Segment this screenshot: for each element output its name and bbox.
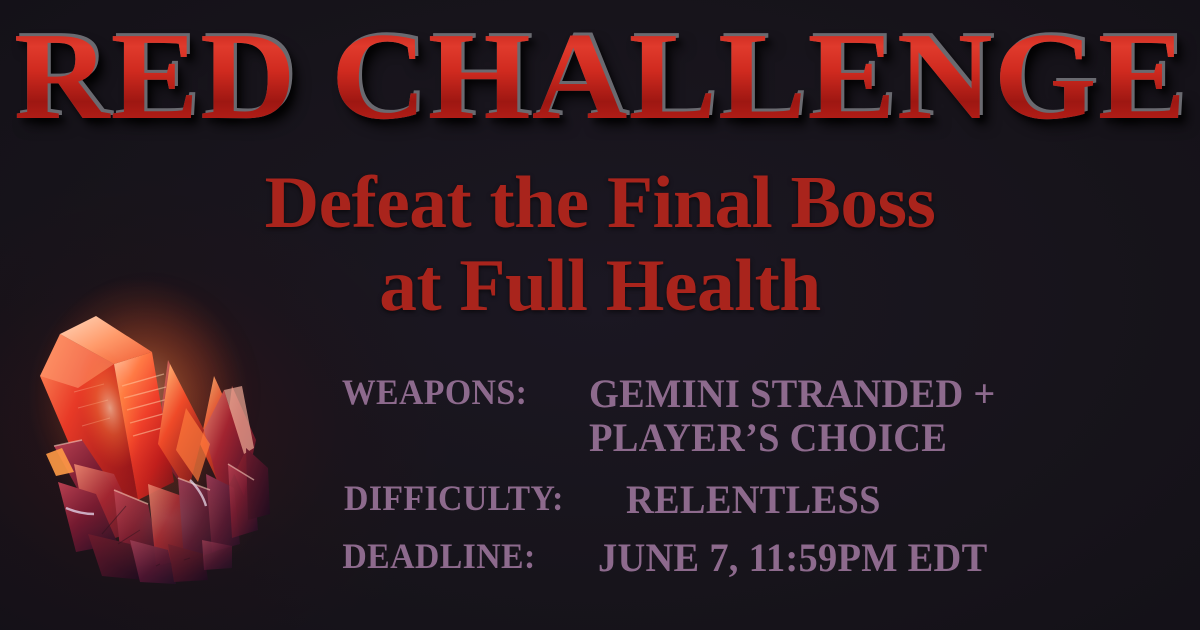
page-title-text: RED CHALLENGE [13,8,1186,146]
detail-row-difficulty: DIFFICULTY: RELENTLESS [330,478,890,522]
detail-row-deadline: DEADLINE: JUNE 7, 11:59PM EDT [330,536,890,580]
challenge-poster: RED CHALLENGE RED CHALLENGE Defeat the F… [0,0,1200,630]
weapons-value-line-1: GEMINI STRANDED + [589,372,996,416]
page-title: RED CHALLENGE RED CHALLENGE [13,14,1186,142]
difficulty-label: DIFFICULTY: [344,478,564,519]
deadline-label: DEADLINE: [342,536,535,577]
red-crystal-cluster-icon [18,268,318,598]
detail-row-weapons: WEAPONS: GEMINI STRANDED + PLAYER’S CHOI… [330,372,890,460]
difficulty-value-line-1: RELENTLESS [626,478,881,522]
subtitle-line-1: Defeat the Final Boss [0,162,1200,245]
weapons-value: GEMINI STRANDED + PLAYER’S CHOICE [589,372,996,460]
title-block: RED CHALLENGE RED CHALLENGE [0,14,1200,164]
weapons-value-line-2: PLAYER’S CHOICE [589,416,996,460]
details-list: WEAPONS: GEMINI STRANDED + PLAYER’S CHOI… [330,372,890,594]
deadline-value-line-1: JUNE 7, 11:59PM EDT [598,536,987,580]
deadline-value: JUNE 7, 11:59PM EDT [598,536,987,580]
weapons-label: WEAPONS: [342,372,527,413]
crystal-svg [18,268,318,598]
difficulty-value: RELENTLESS [626,478,881,522]
